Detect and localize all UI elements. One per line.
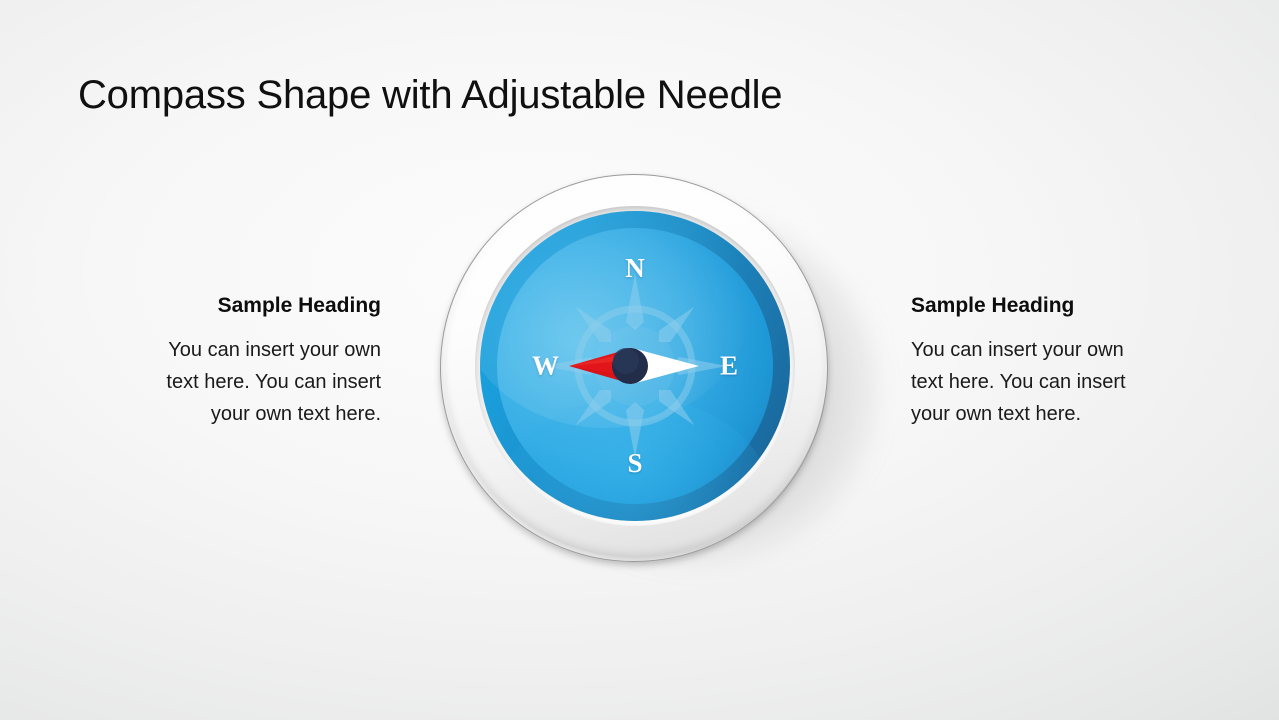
cardinal-label-north: N [480, 255, 790, 282]
cardinal-label-east: E [720, 353, 738, 380]
cardinal-label-west: W [532, 353, 559, 380]
compass-shape[interactable]: N E S W [434, 168, 874, 568]
left-heading: Sample Heading [159, 292, 381, 320]
slide-canvas: Compass Shape with Adjustable Needle Sam… [0, 0, 1279, 720]
left-body-text: You can insert your own text here. You c… [159, 334, 381, 430]
text-block-right: Sample Heading You can insert your own t… [911, 292, 1133, 430]
cardinal-label-south: S [480, 450, 790, 477]
compass-dial-face: N E S W [480, 211, 790, 521]
page-title: Compass Shape with Adjustable Needle [78, 68, 782, 122]
text-block-left: Sample Heading You can insert your own t… [159, 292, 381, 430]
right-heading: Sample Heading [911, 292, 1133, 320]
right-body-text: You can insert your own text here. You c… [911, 334, 1133, 430]
